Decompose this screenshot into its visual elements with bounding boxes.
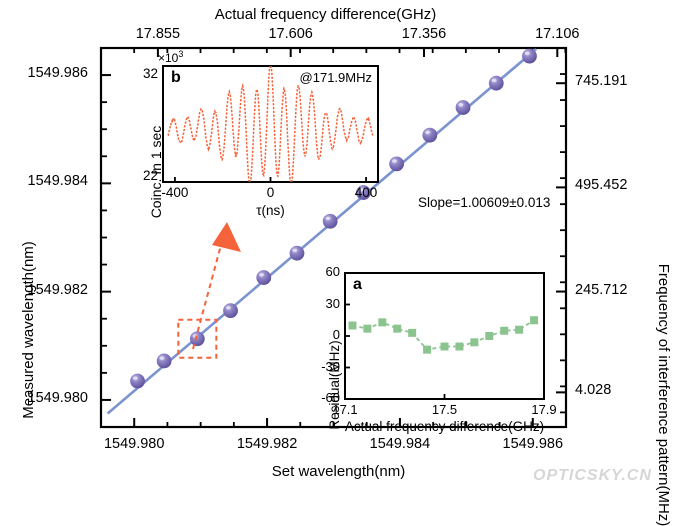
inset-a-residual-marker	[363, 325, 371, 333]
inset-a-frame	[345, 273, 544, 399]
data-point-marker	[256, 270, 271, 285]
data-point-marker	[323, 214, 338, 229]
inset-a-residual-marker	[530, 316, 538, 324]
inset-a-panel-label: a	[353, 276, 362, 294]
inset-b-x-tick-label: -400	[161, 185, 188, 200]
inset-b-x-tick-label: 400	[355, 185, 378, 200]
inset-b-x-tick-label: 0	[267, 185, 275, 200]
x-tick-label: 1549.982	[237, 436, 297, 452]
data-point-marker	[456, 100, 471, 115]
inset-a-residual-marker	[470, 338, 478, 346]
inset-a-residual-marker	[455, 343, 463, 351]
y-right-tick-label: 4.028	[575, 382, 611, 398]
inset-a-residual-marker	[348, 322, 356, 330]
data-point-marker	[489, 76, 504, 91]
x-tick-label: 1549.984	[370, 436, 430, 452]
watermark: OPTICSKY.CN	[533, 467, 652, 485]
y-axis-right-title: Frequency of interference pattern(MHz)	[655, 264, 672, 526]
callout-arrow-head	[212, 222, 241, 252]
y-tick-label: 1549.986	[28, 65, 88, 81]
x-tick-label: 1549.986	[503, 436, 563, 452]
y-axis-title: Measured wavelength(nm)	[20, 241, 37, 419]
x-top-tick-label: 17.606	[268, 26, 312, 42]
inset-b-y-exponent: ×103	[158, 49, 183, 65]
inset-a-y-title: Residual(MHz)	[327, 340, 342, 429]
inset-a-residual-marker	[441, 343, 449, 351]
inset-b-y-tick-label: 32	[143, 66, 158, 81]
data-point-marker	[130, 374, 145, 389]
inset-a-y-tick-label: 60	[326, 264, 340, 279]
data-point-marker	[190, 331, 205, 346]
slope-annotation: Slope=1.00609±0.013	[418, 195, 550, 210]
data-point-marker	[522, 49, 537, 64]
inset-b-y-title: Coinc. In 1 sec	[148, 126, 164, 219]
figure-canvas: 1549.9801549.9821549.9841549.98617.85517…	[0, 0, 680, 492]
inset-a-residual-marker	[393, 325, 401, 333]
x-top-tick-label: 17.855	[136, 26, 180, 42]
x-axis-top-title: Actual frequency difference(GHz)	[215, 6, 437, 23]
x-tick-label: 1549.980	[104, 436, 164, 452]
x-axis-title: Set wavelength(nm)	[272, 463, 405, 480]
y-right-tick-label: 745.191	[575, 73, 627, 89]
inset-a-y-tick-label: 30	[326, 296, 340, 311]
inset-a-residual-marker	[500, 327, 508, 335]
inset-a-residual-marker	[378, 318, 386, 326]
inset-b-annotation: @171.9MHz	[300, 70, 372, 85]
y-right-tick-label: 245.712	[575, 282, 627, 298]
x-top-tick-label: 17.106	[535, 26, 579, 42]
y-right-tick-label: 495.452	[575, 177, 627, 193]
data-point-marker	[290, 246, 305, 261]
inset-a-x-title: Actual frequency difference(GHz)	[345, 419, 544, 434]
data-point-marker	[422, 128, 437, 143]
data-point-marker	[389, 156, 404, 171]
y-tick-label: 1549.984	[28, 173, 88, 189]
inset-b-panel-label: b	[171, 69, 181, 87]
data-point-marker	[157, 354, 172, 369]
inset-a-residual-marker	[485, 332, 493, 340]
x-top-tick-label: 17.356	[402, 26, 446, 42]
data-point-marker	[223, 303, 238, 318]
inset-a-x-tick-label: 17.9	[531, 402, 556, 417]
inset-a-residual-marker	[408, 329, 416, 337]
inset-a-x-tick-label: 17.5	[432, 402, 457, 417]
inset-a-residual-marker	[515, 326, 523, 334]
inset-a-residual-marker	[423, 346, 431, 354]
inset-b-x-title: τ(ns)	[256, 203, 285, 218]
